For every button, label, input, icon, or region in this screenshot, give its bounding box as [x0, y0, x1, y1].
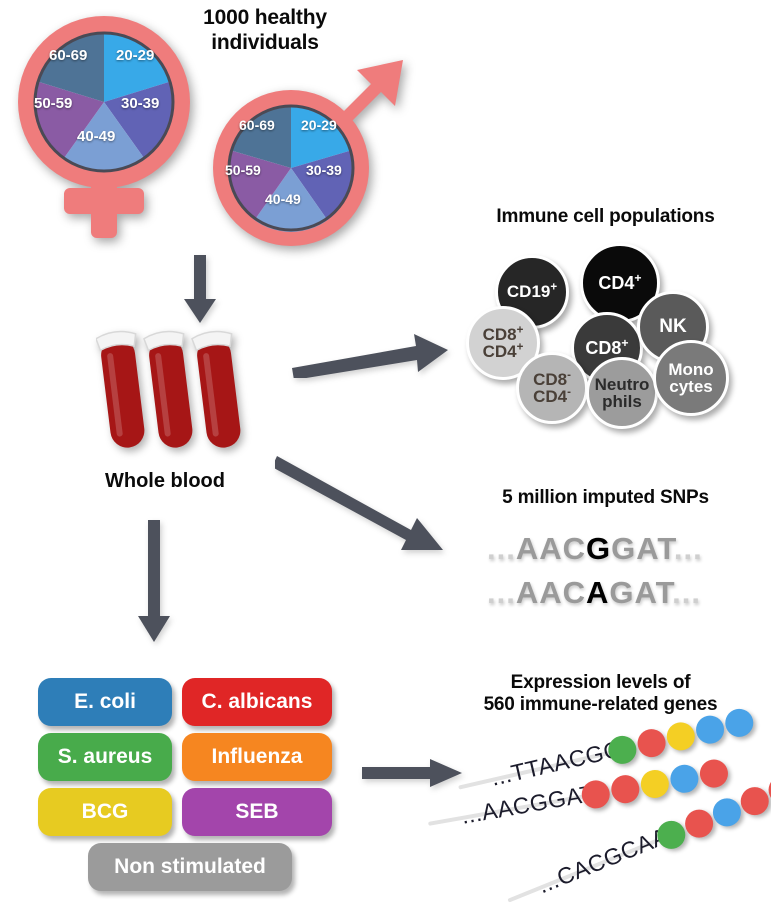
immune-bubble-label: Monocytes	[668, 361, 713, 396]
expression-dot-red	[635, 726, 669, 760]
immune-bubble-label: CD8+	[585, 339, 628, 357]
expression-dot-yellow	[664, 720, 698, 754]
immune-bubble-label: CD8+CD4+	[483, 326, 524, 361]
expression-dot-red	[698, 757, 730, 789]
immune-bubble-monocytes[interactable]: Monocytes	[653, 340, 729, 416]
immune-bubble-label: CD8-CD4-	[533, 371, 571, 406]
expression-dot-red	[609, 773, 641, 805]
figure-canvas: 1000 healthy individuals 20-29 30-39 40-…	[0, 0, 771, 922]
immune-bubble-label: CD4+	[598, 274, 641, 292]
immune-bubble-label: CD19+	[507, 283, 557, 300]
expression-strands: ...TTAACGG...AACGGAT...CACGCAA	[0, 0, 771, 922]
immune-bubble-label: NK	[659, 317, 686, 336]
expression-dot-blue	[693, 713, 727, 747]
expression-dot-yellow	[639, 768, 671, 800]
expression-dot-red	[737, 783, 771, 819]
immune-bubble-cd8-cd4[interactable]: CD8-CD4-	[516, 352, 588, 424]
immune-bubble-neutrophils[interactable]: Neutrophils	[586, 357, 658, 429]
expression-dot-blue	[668, 763, 700, 795]
expression-dot-blue	[722, 706, 756, 740]
strand-sequence-text: ...CACGCAA	[534, 822, 672, 899]
immune-bubble-label: Neutrophils	[595, 376, 650, 411]
strand-sequence-text: ...AACGGAT	[459, 780, 597, 830]
